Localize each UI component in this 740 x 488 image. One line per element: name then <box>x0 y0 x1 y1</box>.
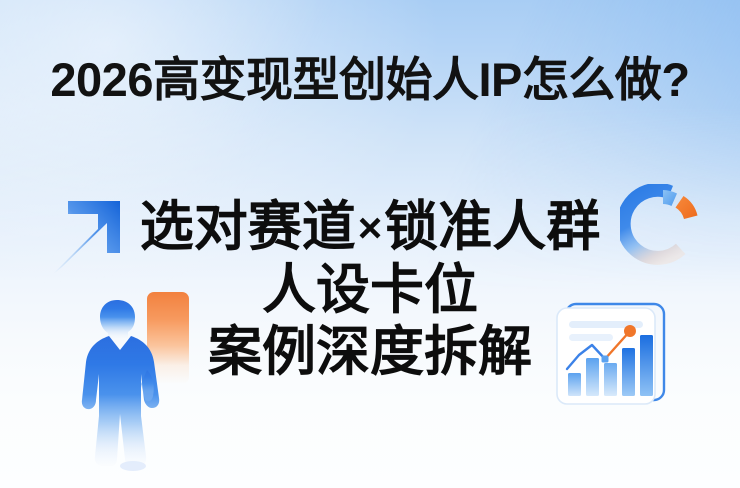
poster-canvas: 2026高变现型创始人IP怎么做? <box>0 0 740 488</box>
multiply-symbol: × <box>356 204 385 251</box>
page-title: 2026高变现型创始人IP怎么做? <box>0 51 740 109</box>
headline-line-1-part-b: 锁准人群 <box>384 197 600 257</box>
headline-line-3: 案例深度拆解 <box>0 321 740 383</box>
headline-line-1: 选对赛道×锁准人群 <box>0 196 740 259</box>
headline-line-1-part-a: 选对赛道 <box>140 197 356 257</box>
headline-block: 选对赛道×锁准人群 人设卡位 案例深度拆解 <box>0 196 740 383</box>
headline-line-2: 人设卡位 <box>0 259 740 321</box>
